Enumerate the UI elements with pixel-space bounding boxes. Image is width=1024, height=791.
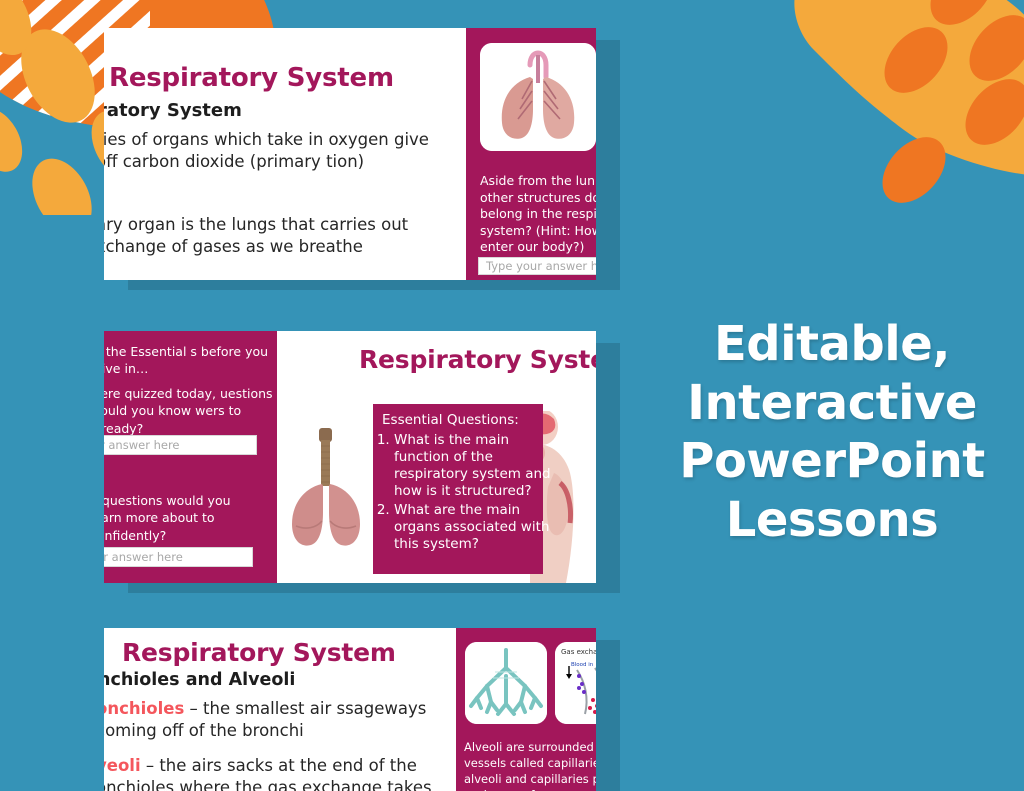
slide-1-question-text: Aside from the lun other structures do b… xyxy=(480,173,596,256)
poster-canvas: Respiratory System ratory System ries of… xyxy=(0,0,1024,791)
slide-3-term-1-name: onchioles xyxy=(104,699,184,718)
slide-3-term-2: veoli – the airs sacks at the end of the… xyxy=(104,755,446,791)
slide-2-callout-list: What is the main function of the respira… xyxy=(370,432,566,553)
slide-3-subtitle: nchioles and Alveoli xyxy=(104,670,295,690)
svg-text:Blood in: Blood in xyxy=(571,662,594,668)
slide-3-title: Respiratory System xyxy=(122,638,396,667)
slide-2-question-2: n questions would you learn more about t… xyxy=(104,492,265,544)
slide-2-answer-input-1[interactable]: r answer here xyxy=(104,435,257,455)
slide-1-title: Respiratory System xyxy=(109,63,394,93)
slide-2-answer-input-2[interactable]: ur answer here xyxy=(104,547,253,567)
slide-3-term-2-definition: – the airs sacks at the end of the onchi… xyxy=(104,756,432,791)
slide-1-paragraph-1: ries of organs which take in oxygen give… xyxy=(104,129,446,174)
slide-2-callout: Essential Questions: What is the main fu… xyxy=(373,404,543,574)
headline-line-4: Lessons xyxy=(640,491,1024,550)
slide-2-question-1: were quizzed today, uestions would you k… xyxy=(104,385,280,437)
slide-1-answer-input[interactable]: Type your answer here xyxy=(478,257,596,275)
slide-1-subtitle: ratory System xyxy=(104,100,242,121)
slide-3-caption: Alveoli are surrounded by vessels called… xyxy=(464,739,596,791)
lungs-trachea-image xyxy=(284,426,369,551)
slide-2-callout-heading: Essential Questions: xyxy=(382,412,519,428)
decorative-shapes-top-right xyxy=(724,0,1024,230)
slide-2[interactable]: n the Essential s before you dive in… we… xyxy=(104,331,596,583)
headline-line-1: Editable, xyxy=(640,315,1024,374)
headline-line-3: PowerPoint xyxy=(640,432,1024,491)
svg-text:Gas exchan: Gas exchan xyxy=(561,648,596,656)
slide-1-paragraph-2: ary organ is the lungs that carries out … xyxy=(104,214,456,259)
lungs-diagram-image xyxy=(480,43,596,151)
slide-1[interactable]: Respiratory System ratory System ries of… xyxy=(104,28,596,280)
slide-3-term-2-name: veoli xyxy=(104,756,141,775)
list-item: What is the main function of the respira… xyxy=(394,432,566,501)
headline-line-2: Interactive xyxy=(640,374,1024,433)
bronchiole-diagram-image xyxy=(465,642,547,724)
list-item: What are the main organs associated with… xyxy=(394,502,566,553)
slide-3-term-1: onchioles – the smallest air ssageways c… xyxy=(104,698,436,742)
slide-2-title: Respiratory Syste xyxy=(359,345,596,374)
slide-2-left-panel: n the Essential s before you dive in… we… xyxy=(104,331,277,583)
slide-1-side-panel: Aside from the lun other structures do b… xyxy=(466,28,596,280)
slide-2-intro-text: n the Essential s before you dive in… xyxy=(104,343,284,378)
headline-text: Editable, Interactive PowerPoint Lessons xyxy=(640,315,1024,549)
gas-exchange-diagram-image: Gas exchan Blood in A CO,O xyxy=(555,642,596,724)
slide-3-side-panel: Gas exchan Blood in A CO,O Alveoli are s… xyxy=(456,628,596,791)
slide-3[interactable]: Respiratory System nchioles and Alveoli … xyxy=(104,628,596,791)
